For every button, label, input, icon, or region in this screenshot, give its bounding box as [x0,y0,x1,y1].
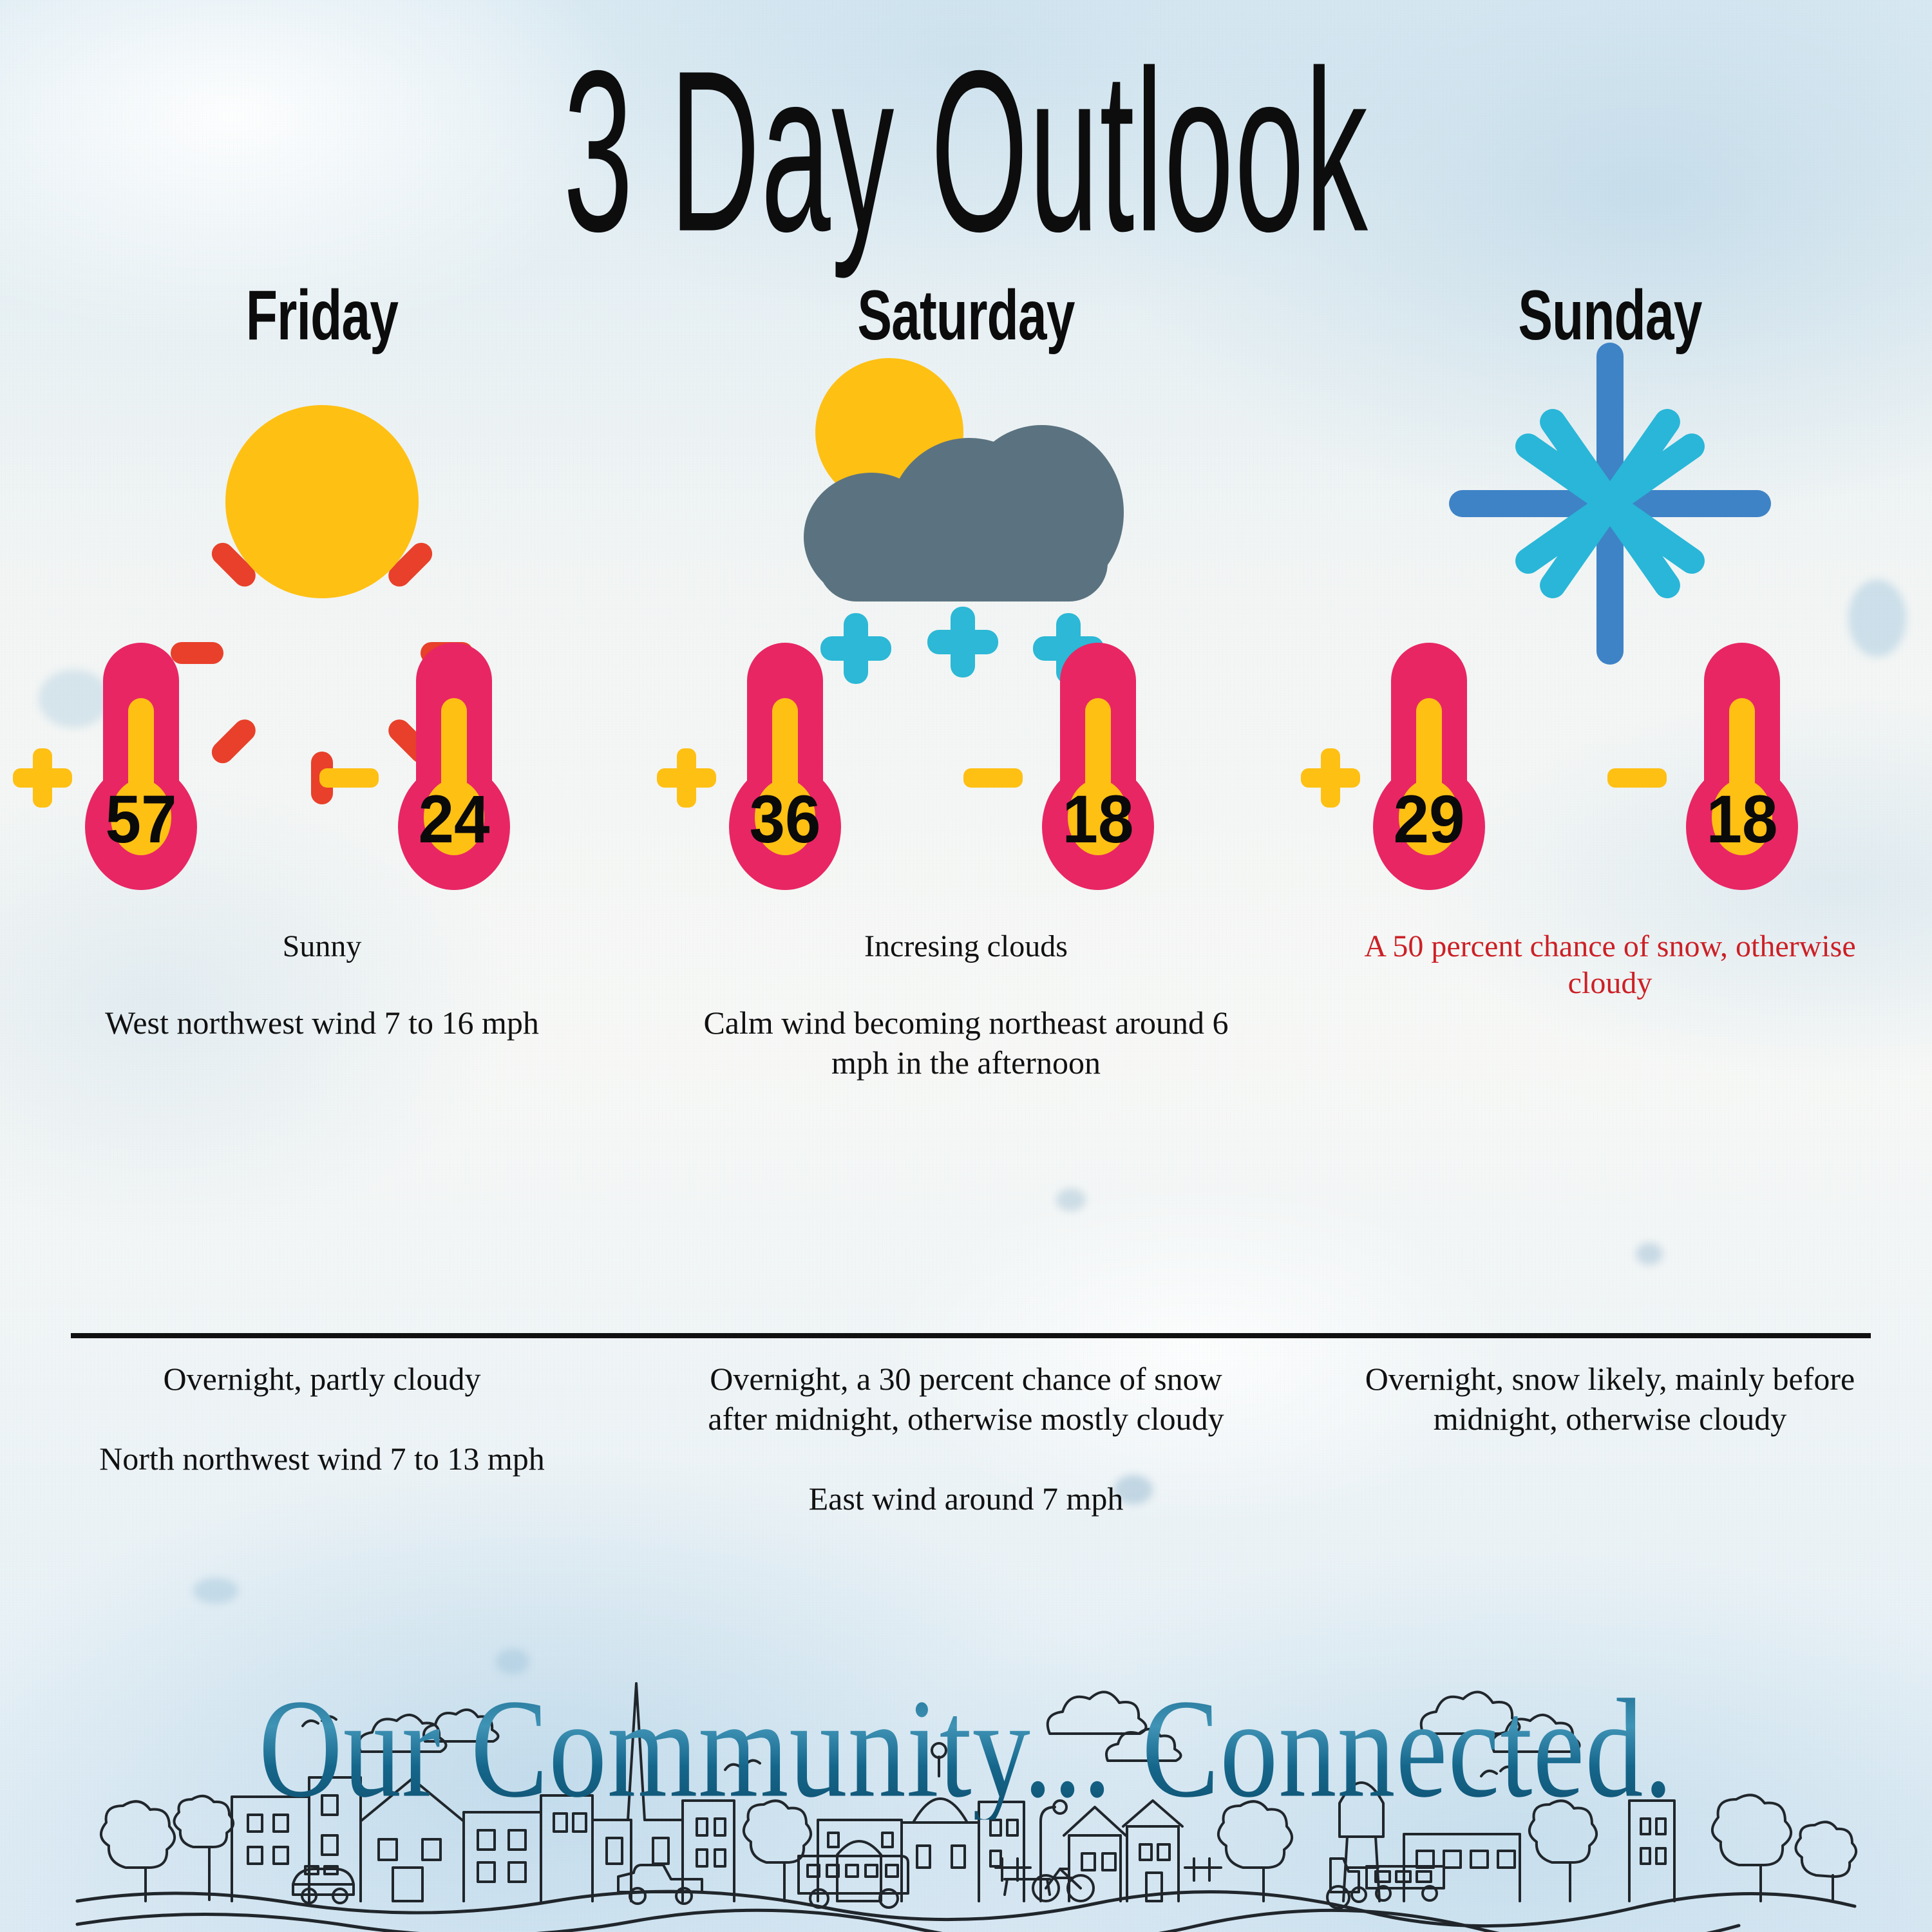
plus-sign-icon [12,747,73,809]
forecast-column-saturday: Saturday [644,277,1288,1359]
cloud-shape [799,413,1121,600]
sun-disc [225,405,419,598]
footer: Our Community... Connected. [0,1662,1932,1932]
low-temperature: 18 [1045,781,1151,858]
high-temperature: 36 [732,781,838,858]
thermometer-low: 18 [1005,643,1166,913]
day-name: Friday [58,279,586,350]
overnight-wind: East wind around 7 mph [644,1479,1288,1519]
low-temperature: 24 [401,781,507,858]
thermometer-row: 36 18 [644,643,1288,920]
overnight-description: Overnight, partly cloudy [0,1359,644,1399]
plus-sign-icon [656,747,717,809]
high-temperature: 57 [88,781,194,858]
thermometer-row: 57 24 [0,643,644,920]
wind-text: Calm wind becoming northeast around 6 mp… [644,1003,1288,1083]
low-temperature: 18 [1689,781,1795,858]
wind-text: West northwest wind 7 to 16 mph [0,1003,644,1043]
forecast-column-sunday: Sunday 29 [1288,277,1932,1359]
section-divider [71,1333,1871,1338]
minus-sign-icon [318,747,380,809]
thermometer-row: 29 18 [1288,643,1932,920]
forecast-column-friday: Friday 5 [0,277,644,1359]
thermometer-high: 36 [692,643,853,913]
thermometer-low: 24 [361,643,522,913]
overnight-column-sunday: Overnight, snow likely, mainly before mi… [1288,1359,1932,1479]
condition-text: Incresing clouds [644,929,1288,965]
thermometer-high: 57 [48,643,209,913]
overnight-description: Overnight, a 30 percent chance of snow a… [644,1359,1288,1439]
plus-sign-icon [1300,747,1361,809]
minus-sign-icon [962,747,1024,809]
condition-text: A 50 percent chance of snow, otherwise c… [1288,929,1932,1001]
snowflake-icon [1443,336,1777,671]
overnight-section: Overnight, partly cloudy North northwest… [0,1359,1932,1636]
weather-icon-friday [0,362,644,639]
footer-tagline: Our Community... Connected. [77,1678,1855,1820]
high-temperature: 29 [1376,781,1482,858]
overnight-description: Overnight, snow likely, mainly before mi… [1288,1359,1932,1439]
overnight-column-friday: Overnight, partly cloudy North northwest… [0,1359,644,1479]
thermometer-low: 18 [1649,643,1810,913]
day-name: Saturday [702,279,1230,350]
thermometer-high: 29 [1336,643,1497,913]
sun-icon [171,350,473,653]
weather-icon-saturday [644,362,1288,639]
overnight-wind: North northwest wind 7 to 13 mph [0,1439,644,1479]
cloud-with-sun-and-snow-icon [799,352,1133,654]
overnight-column-saturday: Overnight, a 30 percent chance of snow a… [644,1359,1288,1519]
page-title: 3 Day Outlook [270,37,1662,267]
weather-icon-sunday [1288,362,1932,639]
forecast-columns: Friday 5 [0,277,1932,1359]
condition-text: Sunny [0,929,644,965]
minus-sign-icon [1606,747,1668,809]
